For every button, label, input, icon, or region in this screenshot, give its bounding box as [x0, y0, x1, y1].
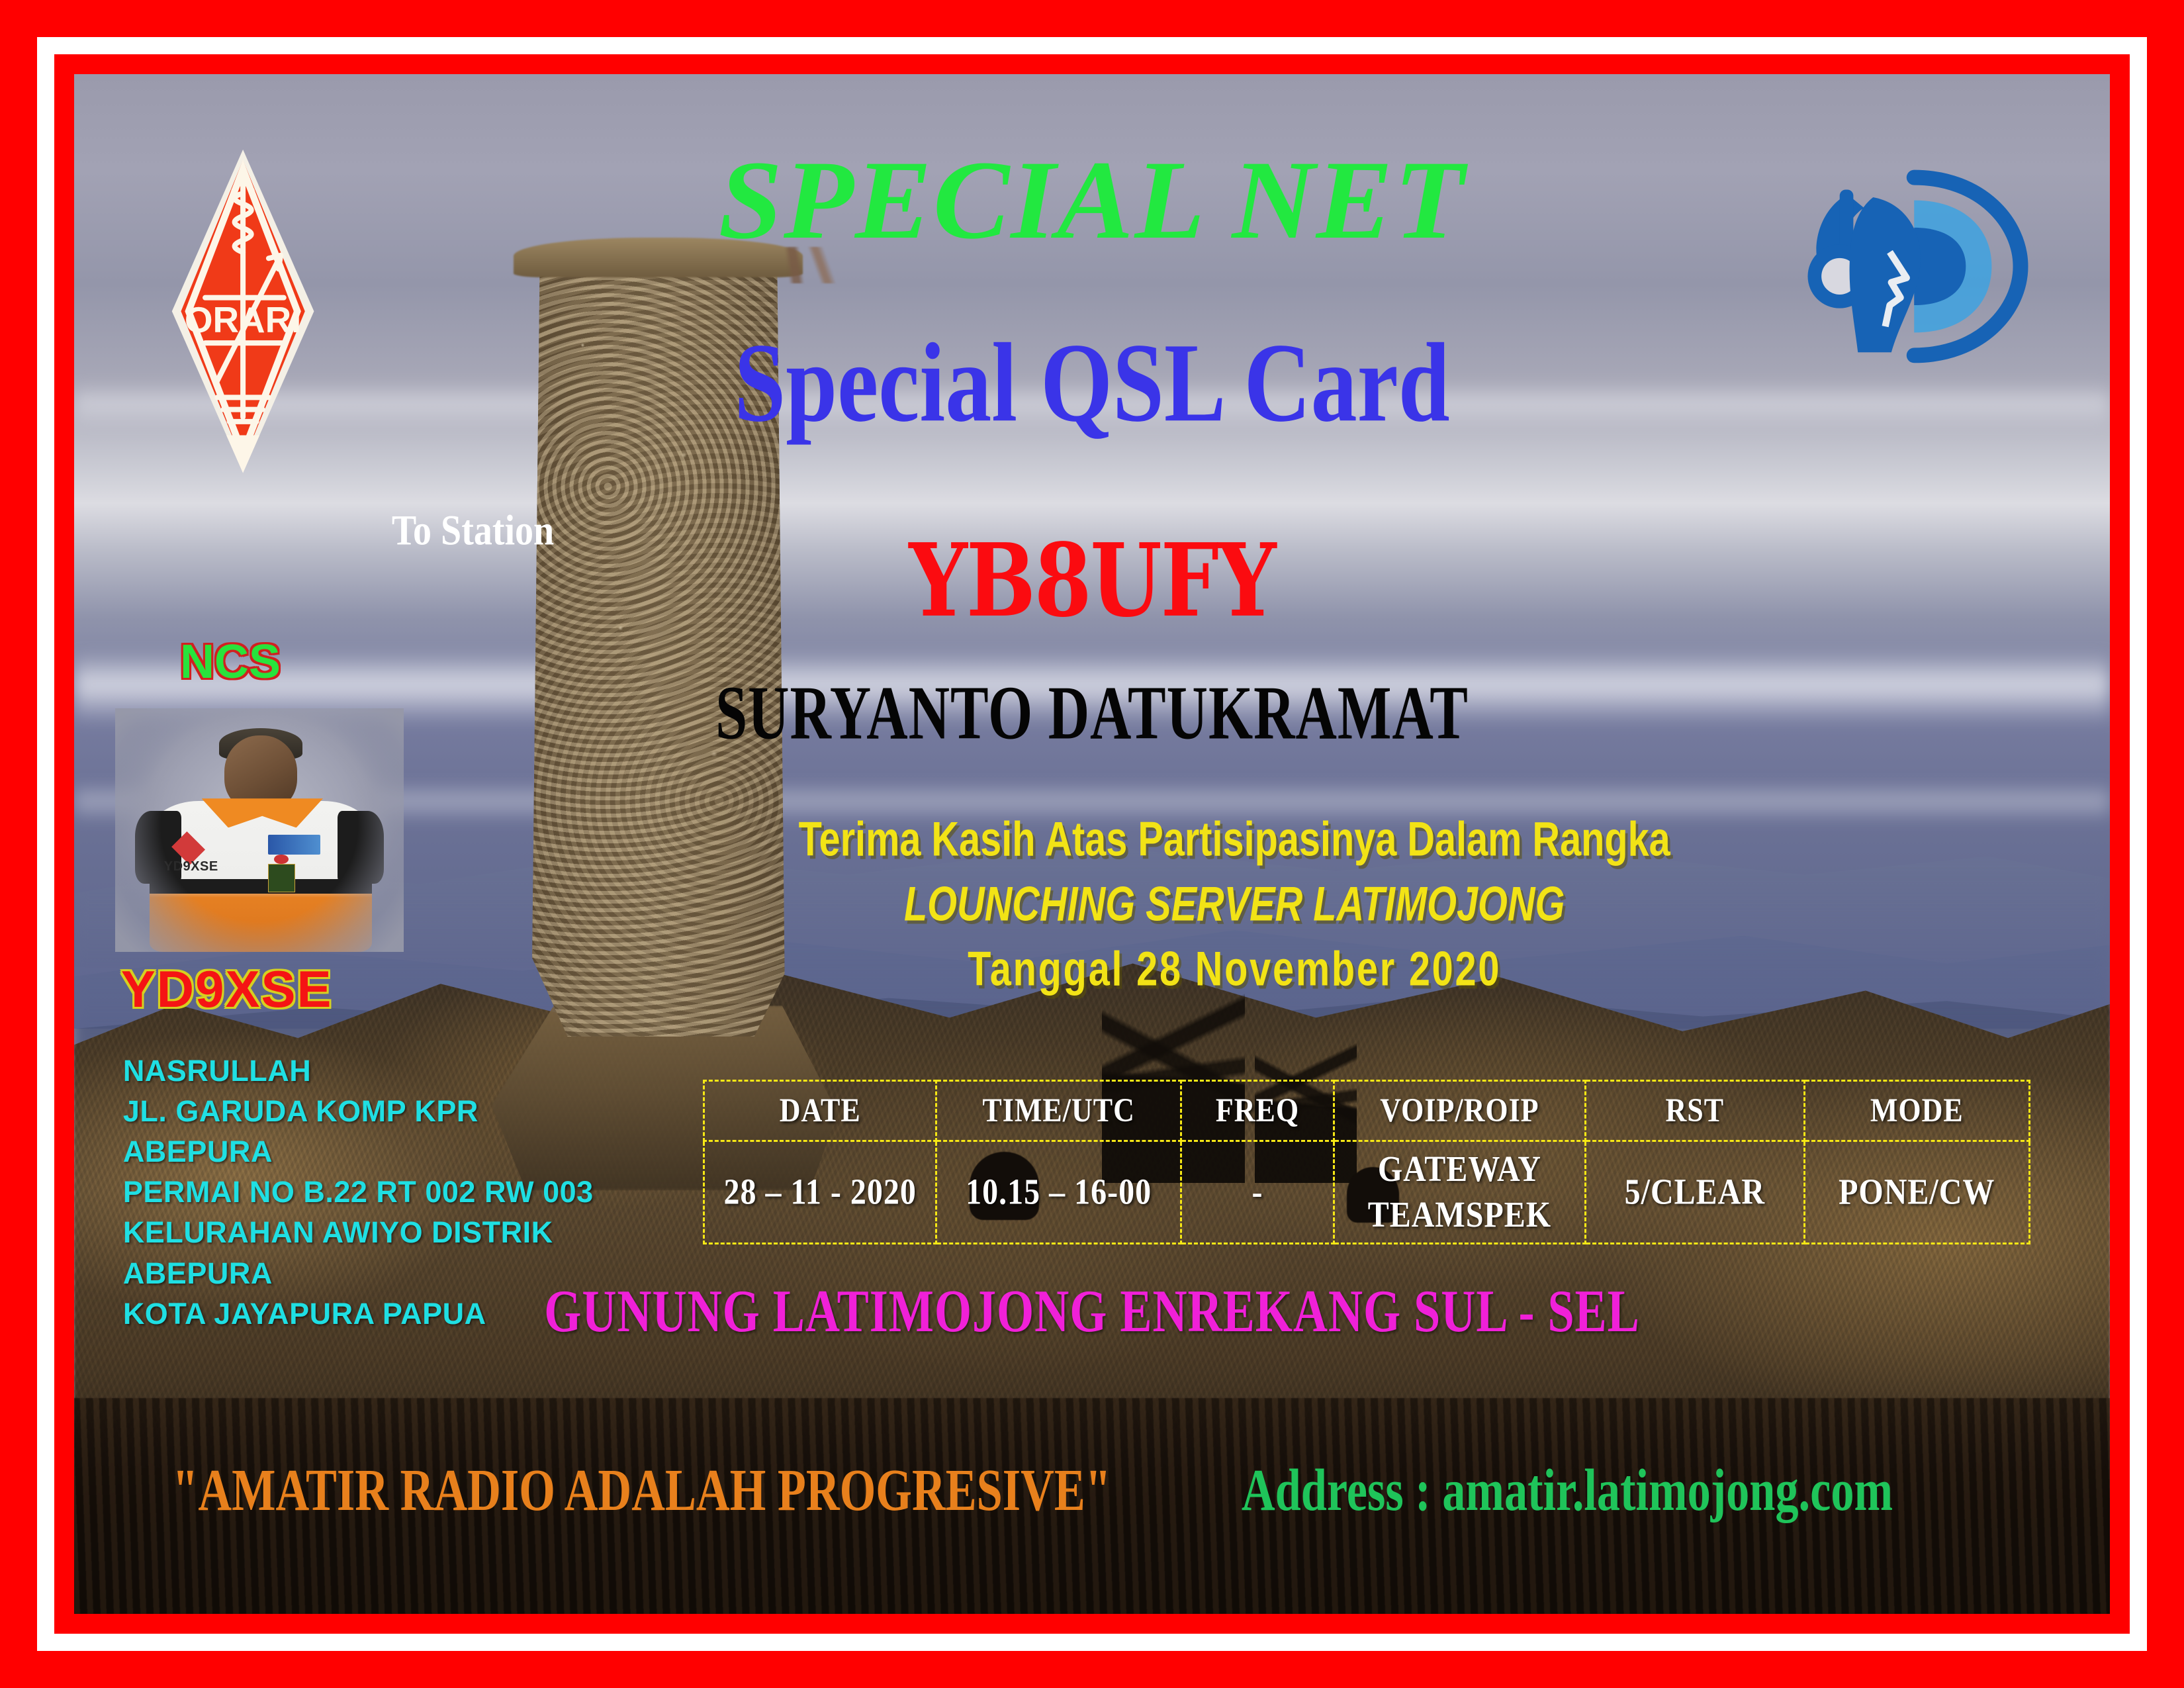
ncs-callsign: YD9XSE: [121, 959, 333, 1019]
page-title-special-net: SPECIAL NET: [74, 136, 2110, 265]
page-subtitle-qsl-card: Special QSL Card: [74, 318, 2110, 447]
event-date: Tanggal 28 November 2020: [458, 941, 2011, 997]
ncs-label: NCS: [180, 635, 281, 689]
table-row: 28 – 11 - 2020 10.15 – 16-00 - GATEWAY T…: [704, 1141, 2030, 1243]
cell-freq: -: [1181, 1133, 1334, 1251]
operator-name: SURYANTO DATUKRAMAT: [115, 670, 2070, 757]
cell-voip-line2: TEAMSPEK: [1368, 1194, 1551, 1235]
qso-log-table: DATE TIME/UTC FREQ VOIP/ROIP RST MODE 28…: [703, 1080, 2030, 1244]
cell-date: 28 – 11 - 2020: [704, 1133, 936, 1251]
qsl-card: ORARI YD9XSE: [0, 0, 2184, 1688]
location-line: GUNUNG LATIMOJONG ENREKANG SUL - SEL: [125, 1277, 2059, 1346]
station-callsign: YB8UFY: [135, 522, 2048, 640]
cell-time: 10.15 – 16-00: [936, 1133, 1181, 1251]
footer-website: Address : amatir.latimojong.com: [1242, 1457, 1893, 1526]
address-line: ABEPURA: [123, 1131, 594, 1172]
footer-motto: "AMATIR RADIO ADALAH PROGRESIVE": [172, 1457, 1111, 1526]
cell-voip-roip: GATEWAY TEAMSPEK: [1334, 1133, 1585, 1251]
address-line: NASRULLAH: [123, 1051, 594, 1091]
thanks-line: Terima Kasih Atas Partisipasinya Dalam R…: [458, 812, 2011, 868]
address-line: JL. GARUDA KOMP KPR: [123, 1091, 594, 1131]
table-header-row: DATE TIME/UTC FREQ VOIP/ROIP RST MODE: [704, 1080, 2030, 1141]
address-line: KELURAHAN AWIYO DISTRIK: [123, 1212, 594, 1252]
cell-voip-line1: GATEWAY: [1378, 1149, 1541, 1189]
cell-rst: 5/CLEAR: [1586, 1133, 1804, 1251]
cell-mode: PONE/CW: [1804, 1133, 2029, 1251]
event-name: LOUNCHING SERVER LATIMOJONG: [458, 876, 2011, 932]
address-line: PERMAI NO B.22 RT 002 RW 003: [123, 1172, 594, 1212]
background-photograph: ORARI YD9XSE: [74, 74, 2110, 1614]
